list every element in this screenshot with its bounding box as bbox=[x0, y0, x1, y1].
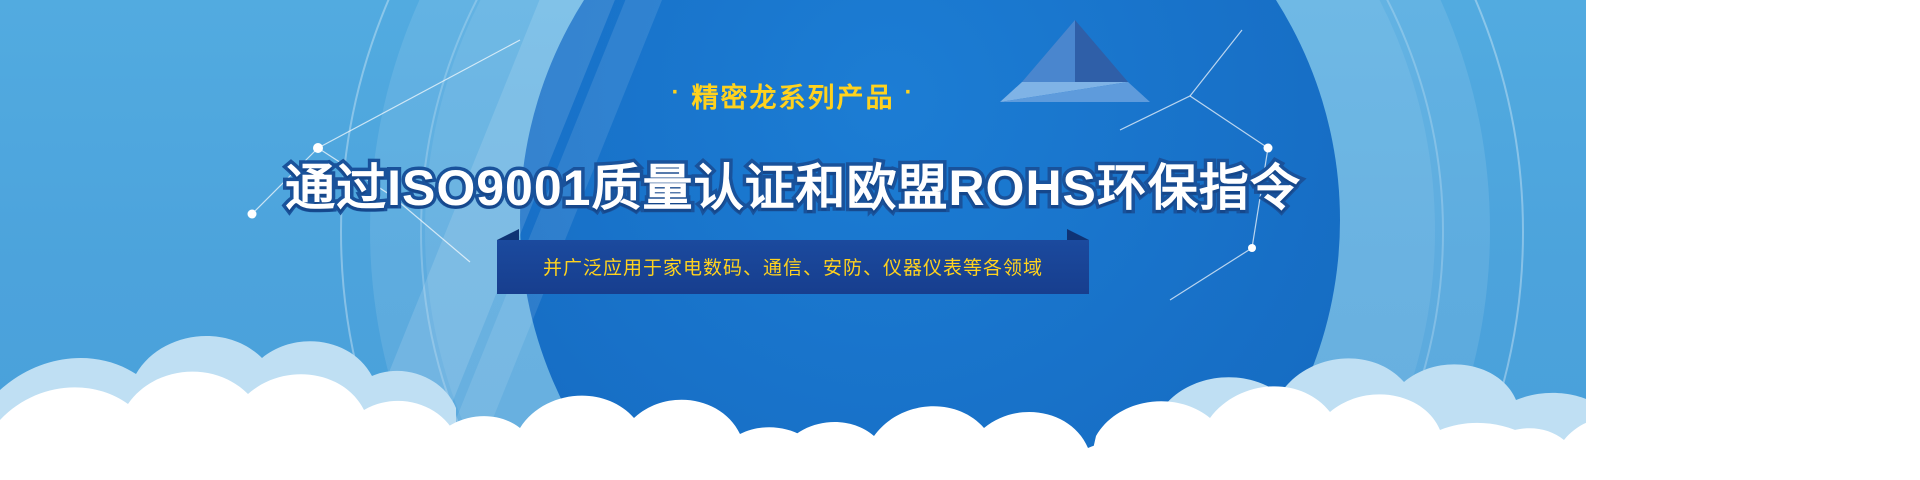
right-white-gutter bbox=[1586, 0, 1920, 480]
ribbon-container: 并广泛应用于家电数码、通信、安防、仪器仪表等各领域 bbox=[0, 240, 1586, 294]
eyebrow-text: 精密龙系列产品 bbox=[682, 76, 905, 115]
eyebrow-dot-right: · bbox=[905, 79, 915, 107]
ribbon-fold-right-icon bbox=[1067, 229, 1089, 240]
ribbon-fold-left-icon bbox=[497, 229, 519, 240]
eyebrow-dot-left: · bbox=[672, 79, 682, 107]
eyebrow-line: ·精密龙系列产品· bbox=[0, 76, 1586, 115]
promo-banner: ·精密龙系列产品· 通过ISO9001质量认证和欧盟ROHS环保指令 并广泛应用… bbox=[0, 0, 1920, 480]
ribbon-banner: 并广泛应用于家电数码、通信、安防、仪器仪表等各领域 bbox=[497, 240, 1089, 294]
ribbon-text: 并广泛应用于家电数码、通信、安防、仪器仪表等各领域 bbox=[543, 258, 1043, 279]
headline-text: 通过ISO9001质量认证和欧盟ROHS环保指令 bbox=[0, 148, 1586, 220]
